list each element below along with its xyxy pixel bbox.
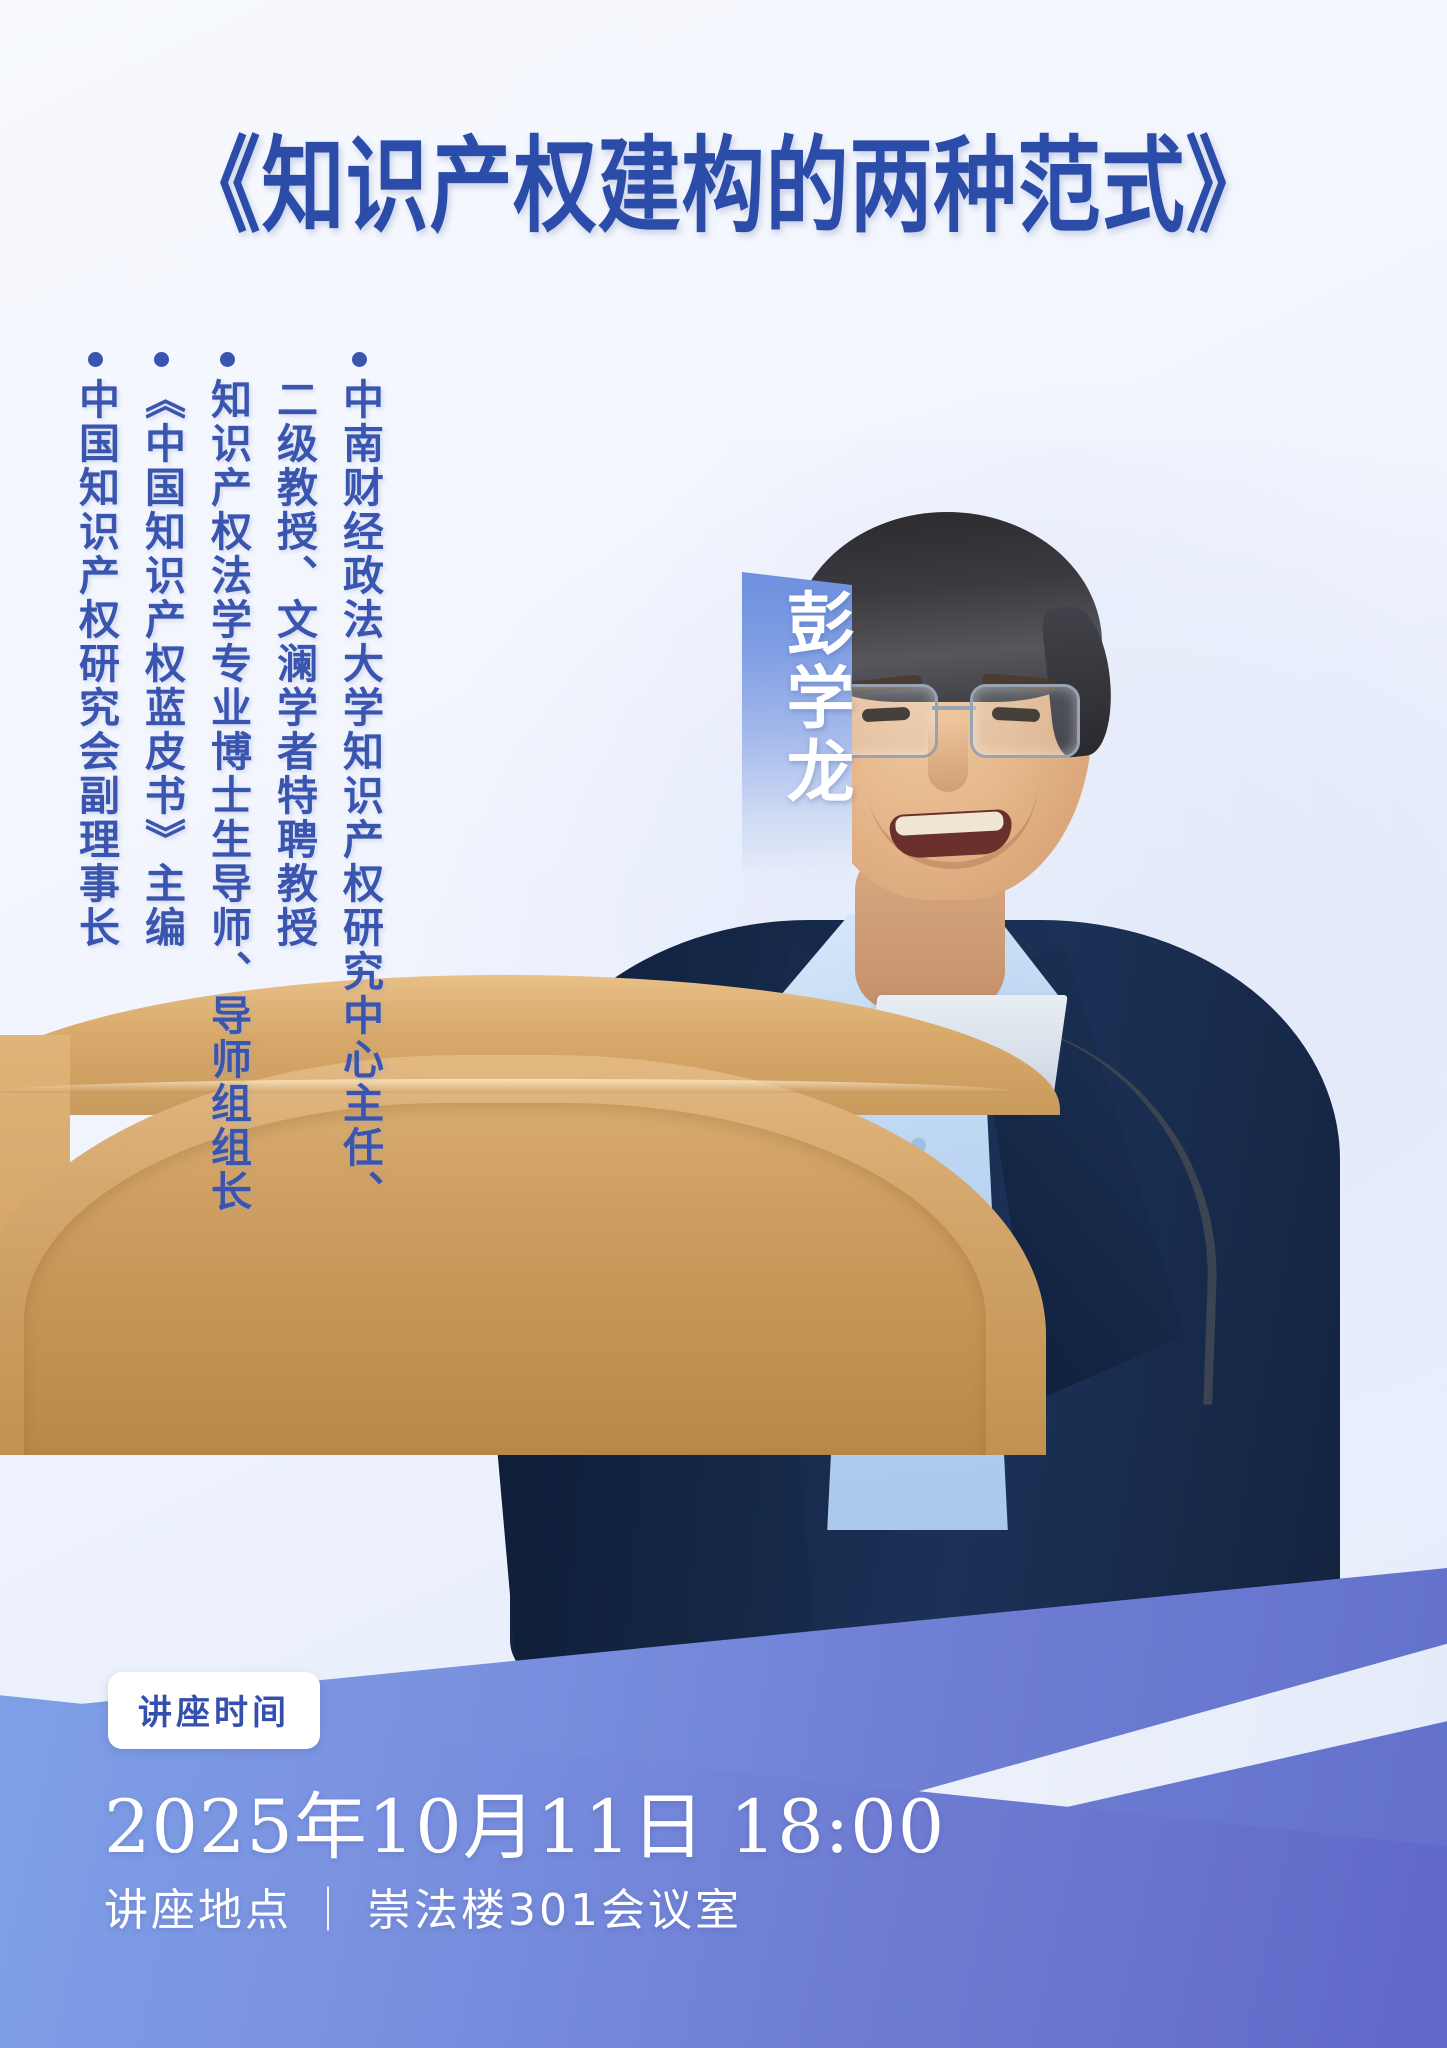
glasses-lens-right — [970, 684, 1080, 758]
list-item: 《中国知识产权蓝皮书》主编 — [136, 352, 186, 950]
poster-title-area: 《知识产权建构的两种范式》 — [0, 128, 1447, 244]
bio-line-text: 中南财经政法大学知识产权研究中心主任、 — [336, 378, 381, 1214]
poster-title: 《知识产权建构的两种范式》 — [177, 128, 1269, 244]
venue-label: 讲座地点 — [104, 1885, 292, 1936]
bullet-dot-icon — [220, 352, 235, 367]
list-item: 二级教授、文澜学者特聘教授 — [268, 352, 318, 950]
bullet-dot-icon — [154, 352, 169, 367]
list-item: 知识产权法学专业博士生导师、导师组组长 — [202, 352, 252, 1214]
bio-line-text: 知识产权法学专业博士生导师、导师组组长 — [204, 378, 249, 1214]
speaker-name-banner: 彭学龙 — [742, 572, 852, 882]
time-label-badge: 讲座时间 — [108, 1672, 320, 1749]
speaker-bio-list: 中南财经政法大学知识产权研究中心主任、 二级教授、文澜学者特聘教授 知识产权法学… — [70, 352, 384, 1292]
venue-separator: ｜ — [292, 1885, 367, 1936]
bullet-dot-icon — [352, 352, 367, 367]
speaker-teeth — [895, 811, 1004, 836]
list-item: 中国知识产权研究会副理事长 — [70, 352, 120, 950]
venue-value: 崇法楼301会议室 — [367, 1885, 742, 1936]
bullet-dot-icon — [88, 352, 103, 367]
event-details: 讲座时间 2025年10月11日 18:00 讲座地点｜崇法楼301会议室 — [0, 1628, 1447, 2048]
bio-line-text: 中国知识产权研究会副理事长 — [72, 378, 117, 950]
bio-line-text: 二级教授、文澜学者特聘教授 — [270, 378, 315, 950]
list-item: 中南财经政法大学知识产权研究中心主任、 — [334, 352, 384, 1214]
event-venue: 讲座地点｜崇法楼301会议室 — [104, 1874, 742, 1938]
lecture-poster: 《知识产权建构的两种范式》 — [0, 0, 1447, 2048]
bio-line-text: 《中国知识产权蓝皮书》主编 — [138, 378, 183, 950]
speaker-name: 彭学龙 — [742, 588, 852, 810]
event-datetime: 2025年10月11日 18:00 — [104, 1768, 945, 1874]
